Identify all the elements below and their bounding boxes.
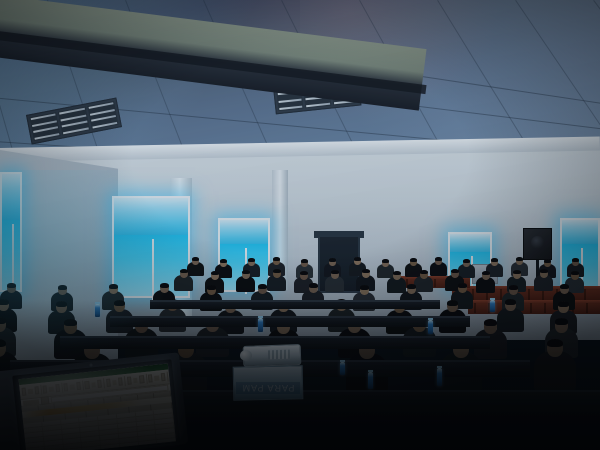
audience-member-hair [258, 284, 267, 289]
audience-member-hair [0, 339, 6, 347]
ribbon-button[interactable] [49, 386, 54, 391]
ribbon-button[interactable] [160, 373, 165, 381]
desk-edge-2 [60, 336, 490, 338]
audience-member-hair [451, 269, 459, 273]
audience-member-hair [354, 257, 361, 261]
ribbon-button[interactable] [106, 379, 111, 387]
desk-edge-1 [110, 316, 470, 318]
audience-member-hair [447, 300, 458, 306]
audience-member-hair [160, 283, 169, 288]
water-bottle [95, 304, 100, 317]
audience-member-hair [491, 258, 498, 262]
ribbon-button[interactable] [22, 388, 27, 396]
audience-member [325, 270, 344, 294]
audience-member-hair [56, 301, 67, 307]
ribbon-separator [61, 383, 62, 393]
audience-member-hair [513, 270, 521, 274]
audience-member-hair [360, 285, 369, 290]
audience-member [534, 339, 576, 395]
window-left-large-blind [114, 198, 188, 239]
ribbon-button[interactable] [43, 385, 48, 393]
audience-member-hair [273, 269, 281, 273]
ribbon-button[interactable] [76, 382, 81, 390]
water-bottle-cap [437, 366, 442, 368]
photo-scene: PARA PAM [0, 0, 600, 450]
audience-member-hair [458, 283, 467, 288]
ribbon-button[interactable] [64, 383, 69, 391]
audience-member-hair [180, 269, 188, 273]
audience-member-hair [435, 257, 442, 261]
audience-member-torso [534, 351, 576, 391]
ribbon-button[interactable] [91, 382, 96, 387]
ribbon-button[interactable] [55, 384, 60, 392]
audience-member-hair [558, 301, 569, 307]
audience-member-hair [331, 270, 339, 274]
audience-member-hair [544, 259, 551, 263]
ribbon-separator [166, 372, 167, 382]
audience-member-hair [109, 284, 118, 289]
ribbon-separator [124, 376, 125, 386]
audience-member-hair [329, 258, 336, 262]
ribbon-button[interactable] [34, 386, 39, 394]
water-bottle [340, 362, 345, 375]
ribbon-separator [82, 381, 83, 391]
audience-member-hair [362, 269, 370, 273]
ribbon-button[interactable] [85, 381, 90, 389]
water-bottle-cap [428, 318, 433, 320]
audience-member-hair [484, 319, 497, 326]
audience-member-hair [0, 317, 6, 324]
ribbon-separator [40, 385, 41, 395]
audience-member [174, 269, 193, 293]
projector-vent [268, 350, 290, 360]
audience-member-hair [242, 270, 250, 274]
audience-member-hair [211, 271, 219, 275]
audience-member-hair [300, 271, 308, 275]
laptop-screen[interactable] [19, 364, 176, 450]
water-bottle-cap [258, 316, 263, 318]
audience-member-hair [114, 300, 125, 306]
ribbon-button[interactable] [97, 380, 102, 388]
audience-member-hair [407, 284, 416, 289]
audience-member-hair [273, 257, 280, 261]
water-bottle-cap [490, 298, 495, 300]
audience-member-hair [382, 259, 389, 263]
audience-member-hair [220, 259, 227, 263]
audience-member-hair [410, 258, 417, 262]
cardboard-box-text: PARA PAM [236, 381, 300, 394]
speaker-cone-icon [531, 236, 544, 249]
audience-member-hair [64, 319, 77, 326]
ribbon-button[interactable] [28, 388, 33, 393]
audience-member-hair [58, 285, 67, 290]
ribbon-button[interactable] [118, 377, 123, 385]
audience-member-hair [571, 271, 579, 275]
audience-member-hair [0, 299, 9, 305]
ribbon-button[interactable] [154, 375, 159, 380]
audience-member-hair [555, 318, 568, 325]
ribbon-button[interactable] [148, 374, 153, 382]
audience-member-hair [393, 271, 401, 275]
water-bottle [258, 318, 263, 332]
audience-member-hair [572, 258, 579, 262]
water-bottle-cap [368, 370, 373, 372]
ribbon-button[interactable] [70, 384, 75, 389]
audience-member-hair [309, 283, 318, 288]
audience-member-hair [516, 257, 523, 261]
audience-member-hair [540, 269, 548, 273]
audience-member-hair [509, 285, 518, 290]
ribbon-button[interactable] [139, 375, 144, 383]
audience-member-hair [7, 283, 16, 288]
audience-member-hair [482, 271, 490, 275]
audience-member [534, 269, 553, 293]
audience-member-hair [547, 339, 563, 347]
audience-member-hair [301, 259, 308, 263]
water-bottle [490, 300, 495, 312]
audience-member-hair [420, 270, 428, 274]
desk-edge-0 [150, 300, 440, 302]
ribbon-button[interactable] [112, 379, 117, 384]
audience-member-hair [207, 285, 216, 290]
window-far-left-blind [2, 174, 20, 224]
water-bottle-cap [340, 360, 345, 362]
ribbon-separator [103, 378, 104, 388]
water-bottle-cap [95, 302, 100, 304]
audience-member-hair [192, 257, 199, 261]
audience-member [476, 271, 495, 295]
ribbon-separator [145, 374, 146, 384]
audience-member-hair [560, 284, 569, 289]
audience-member-hair [463, 259, 470, 263]
ribbon-button[interactable] [127, 376, 132, 384]
water-bottle [368, 372, 373, 389]
audience-member-hair [248, 258, 255, 262]
water-bottle [428, 320, 433, 334]
ribbon-button[interactable] [133, 377, 138, 382]
audience-member-hair [505, 299, 516, 305]
water-bottle [437, 368, 442, 386]
